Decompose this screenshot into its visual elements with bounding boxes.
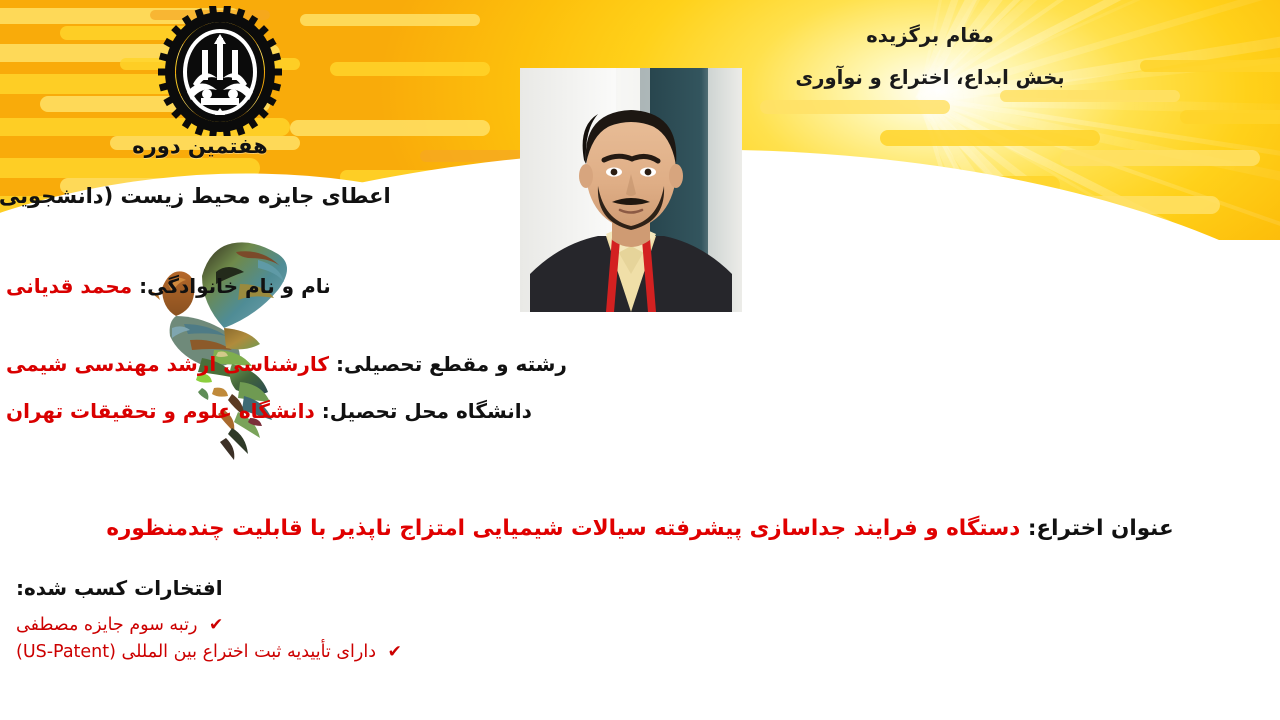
invention-label: عنوان اختراع: [1028, 516, 1174, 541]
info-row-name: نام و نام خانوادگی: محمد قدیانی [0, 276, 1272, 296]
cloud-stripe [330, 62, 490, 76]
check-icon: ✔ [388, 642, 402, 662]
invention-value: دستگاه و فرایند جداسازی پیشرفته سیالات ش… [106, 516, 1020, 541]
cloud-stripe [1180, 110, 1280, 124]
achievement-text: رتبه سوم جایزه مصطفی [16, 615, 197, 635]
cloud-stripe [1060, 150, 1260, 166]
info-value-university: دانشگاه علوم و تحقیقات تهران [6, 399, 315, 423]
poster-root: هفتمین دوره اعطای جایزه محیط زیست (دانشج… [0, 0, 1280, 720]
achievement-item: ✔ رتبه سوم جایزه مصطفی [16, 612, 1272, 639]
event-edition-title: هفتمین دوره [0, 136, 400, 157]
info-row-field: رشته و مقطع تحصیلی: کارشناسی ارشد مهندسی… [0, 354, 1272, 374]
award-rank-line: مقام برگزیده [620, 26, 1240, 46]
wildlife-bird-logo-icon [128, 232, 332, 462]
info-value-name: محمد قدیانی [6, 274, 132, 298]
cloud-stripe [300, 14, 480, 26]
cloud-stripe [290, 120, 490, 136]
info-value-field: کارشناسی ارشد مهندسی شیمی [6, 352, 329, 376]
achievement-item: ✔ دارای تأییدیه ثبت اختراع بین المللی (U… [16, 639, 1272, 666]
invention-title-row: عنوان اختراع: دستگاه و فرایند جداسازی پی… [0, 518, 1280, 540]
achievements-heading: افتخارات کسب شده: [8, 578, 1272, 598]
info-label-university: دانشگاه محل تحصیل: [322, 399, 532, 423]
info-label-field: رشته و مقطع تحصیلی: [336, 352, 567, 376]
event-subtitle: اعطای جایزه محیط زیست (دانشجویی) [0, 186, 400, 207]
university-emblem-icon [157, 6, 283, 136]
check-icon: ✔ [209, 615, 223, 635]
info-row-university: دانشگاه محل تحصیل: دانشگاه علوم و تحقیقا… [0, 401, 1272, 421]
info-label-name: نام و نام خانوادگی: [139, 274, 331, 298]
cloud-stripe [880, 130, 1100, 146]
achievements-list: ✔ رتبه سوم جایزه مصطفی ✔ دارای تأییدیه ث… [8, 612, 1272, 666]
achievement-text: دارای تأییدیه ثبت اختراع بین المللی (US-… [16, 642, 376, 662]
